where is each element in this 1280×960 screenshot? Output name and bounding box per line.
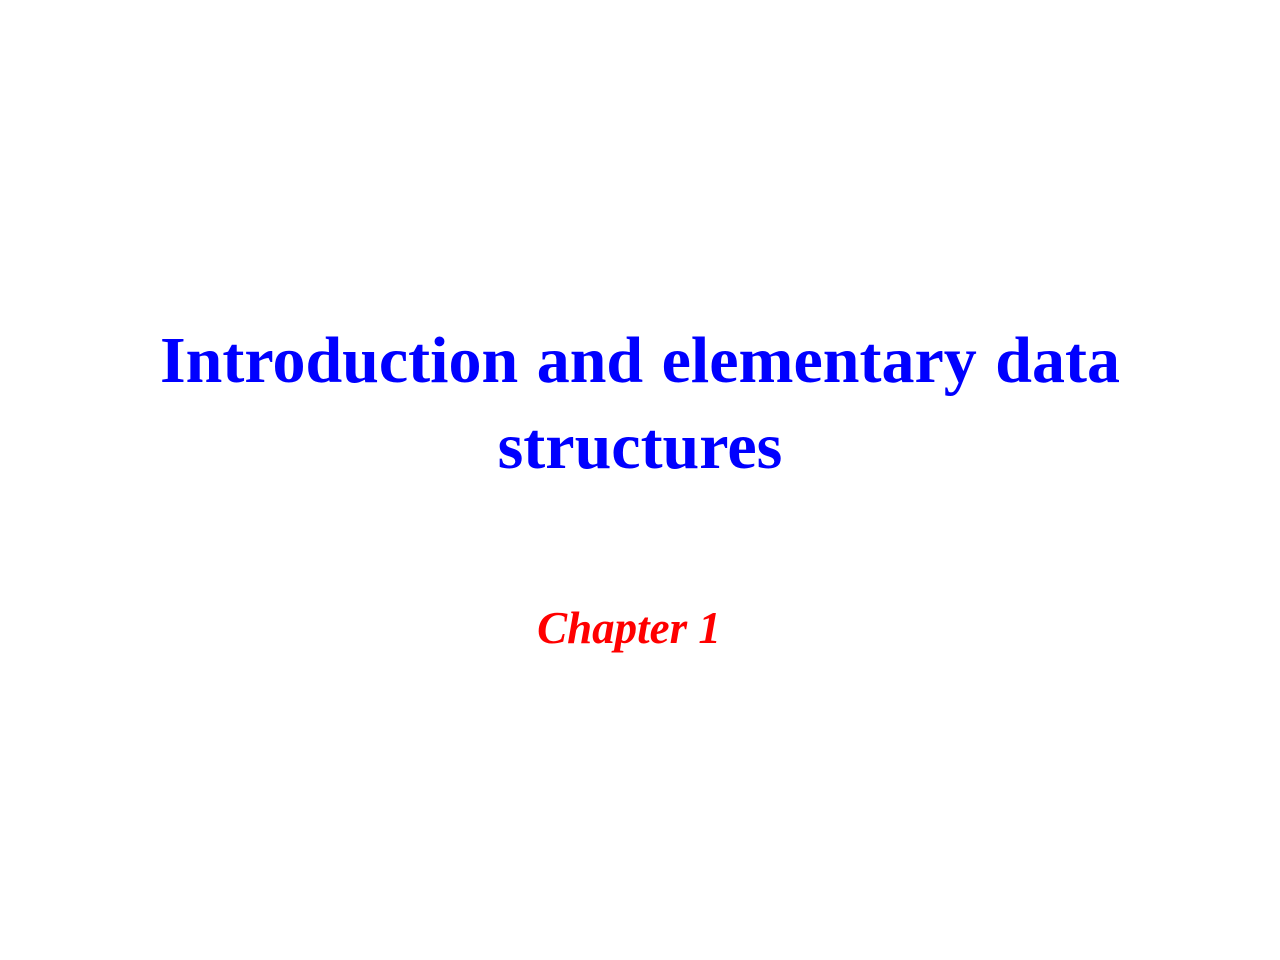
title-placeholder[interactable]: Introduction and elementary data structu…: [104, 318, 1176, 490]
slide-canvas: Introduction and elementary data structu…: [0, 0, 1280, 960]
page-title: Introduction and elementary data structu…: [104, 318, 1176, 490]
slide-subtitle: Chapter 1: [104, 600, 1154, 656]
subtitle-placeholder[interactable]: Chapter 1: [104, 600, 1154, 656]
